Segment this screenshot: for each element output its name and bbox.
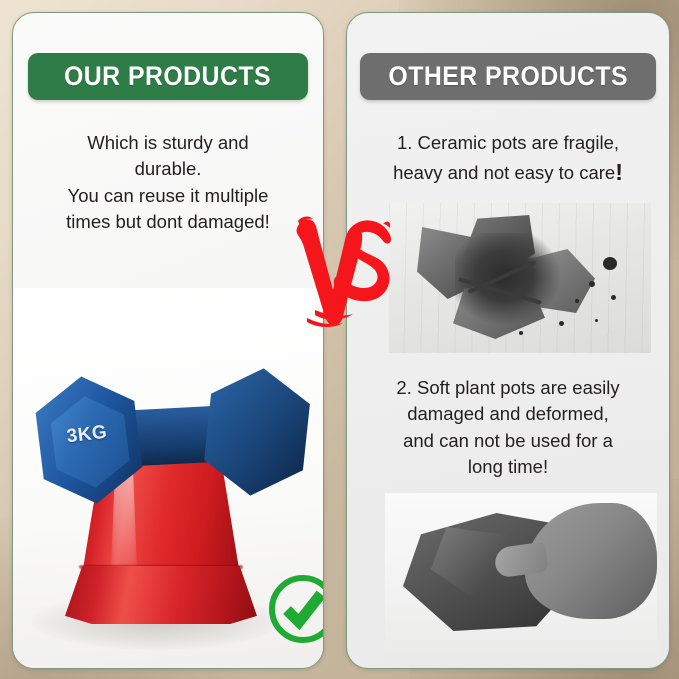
our-products-description: Which is sturdy and durable. You can reu…: [13, 130, 323, 235]
hand-crushing-soft-fabric-pot-photo: [385, 493, 657, 668]
point-1-line-1: 1. Ceramic pots are fragile,: [361, 130, 655, 156]
other-products-point-2: 2. Soft plant pots are easily damaged an…: [347, 375, 669, 480]
point-2-line-4: long time!: [361, 454, 655, 480]
our-products-banner: OUR PRODUCTS: [28, 53, 308, 100]
point-1-exclamation: !: [615, 159, 623, 185]
blue-dumbbell: 3KG: [31, 368, 321, 518]
point-2-line-2: damaged and deformed,: [361, 401, 655, 427]
soil-speck: [603, 257, 617, 270]
point-2-line-1: 2. Soft plant pots are easily: [361, 375, 655, 401]
other-products-banner: OTHER PRODUCTS: [360, 53, 656, 100]
check-badge: [266, 572, 324, 646]
soil-speck: [519, 331, 523, 335]
our-products-line-4: times but dont damaged!: [27, 209, 309, 235]
soil-speck: [575, 299, 579, 303]
spilled-plant-foliage: [455, 233, 565, 329]
other-products-banner-label: OTHER PRODUCTS: [388, 63, 628, 90]
point-1-line-2-text: heavy and not easy to care: [393, 162, 615, 183]
our-products-line-2: durable.: [27, 156, 309, 182]
our-products-card: OUR PRODUCTS Which is sturdy and durable…: [12, 12, 324, 669]
soil-speck: [595, 319, 598, 322]
broken-ceramic-pot-photo: [389, 203, 651, 353]
point-1-line-2: heavy and not easy to care!: [361, 156, 655, 189]
our-products-banner-label: OUR PRODUCTS: [64, 63, 271, 90]
soil-speck: [559, 321, 564, 326]
pot-rim: [65, 566, 257, 624]
comparison-infographic: OUR PRODUCTS Which is sturdy and durable…: [0, 0, 679, 679]
other-products-point-1: 1. Ceramic pots are fragile, heavy and n…: [347, 130, 669, 189]
soil-speck: [589, 281, 595, 287]
soil-speck: [611, 295, 616, 300]
our-products-line-1: Which is sturdy and: [27, 130, 309, 156]
dumbbell-head-right: [197, 363, 318, 502]
our-products-line-3: You can reuse it multiple: [27, 183, 309, 209]
other-products-card: OTHER PRODUCTS 1. Ceramic pots are fragi…: [346, 12, 670, 669]
point-2-line-3: and can not be used for a: [361, 428, 655, 454]
